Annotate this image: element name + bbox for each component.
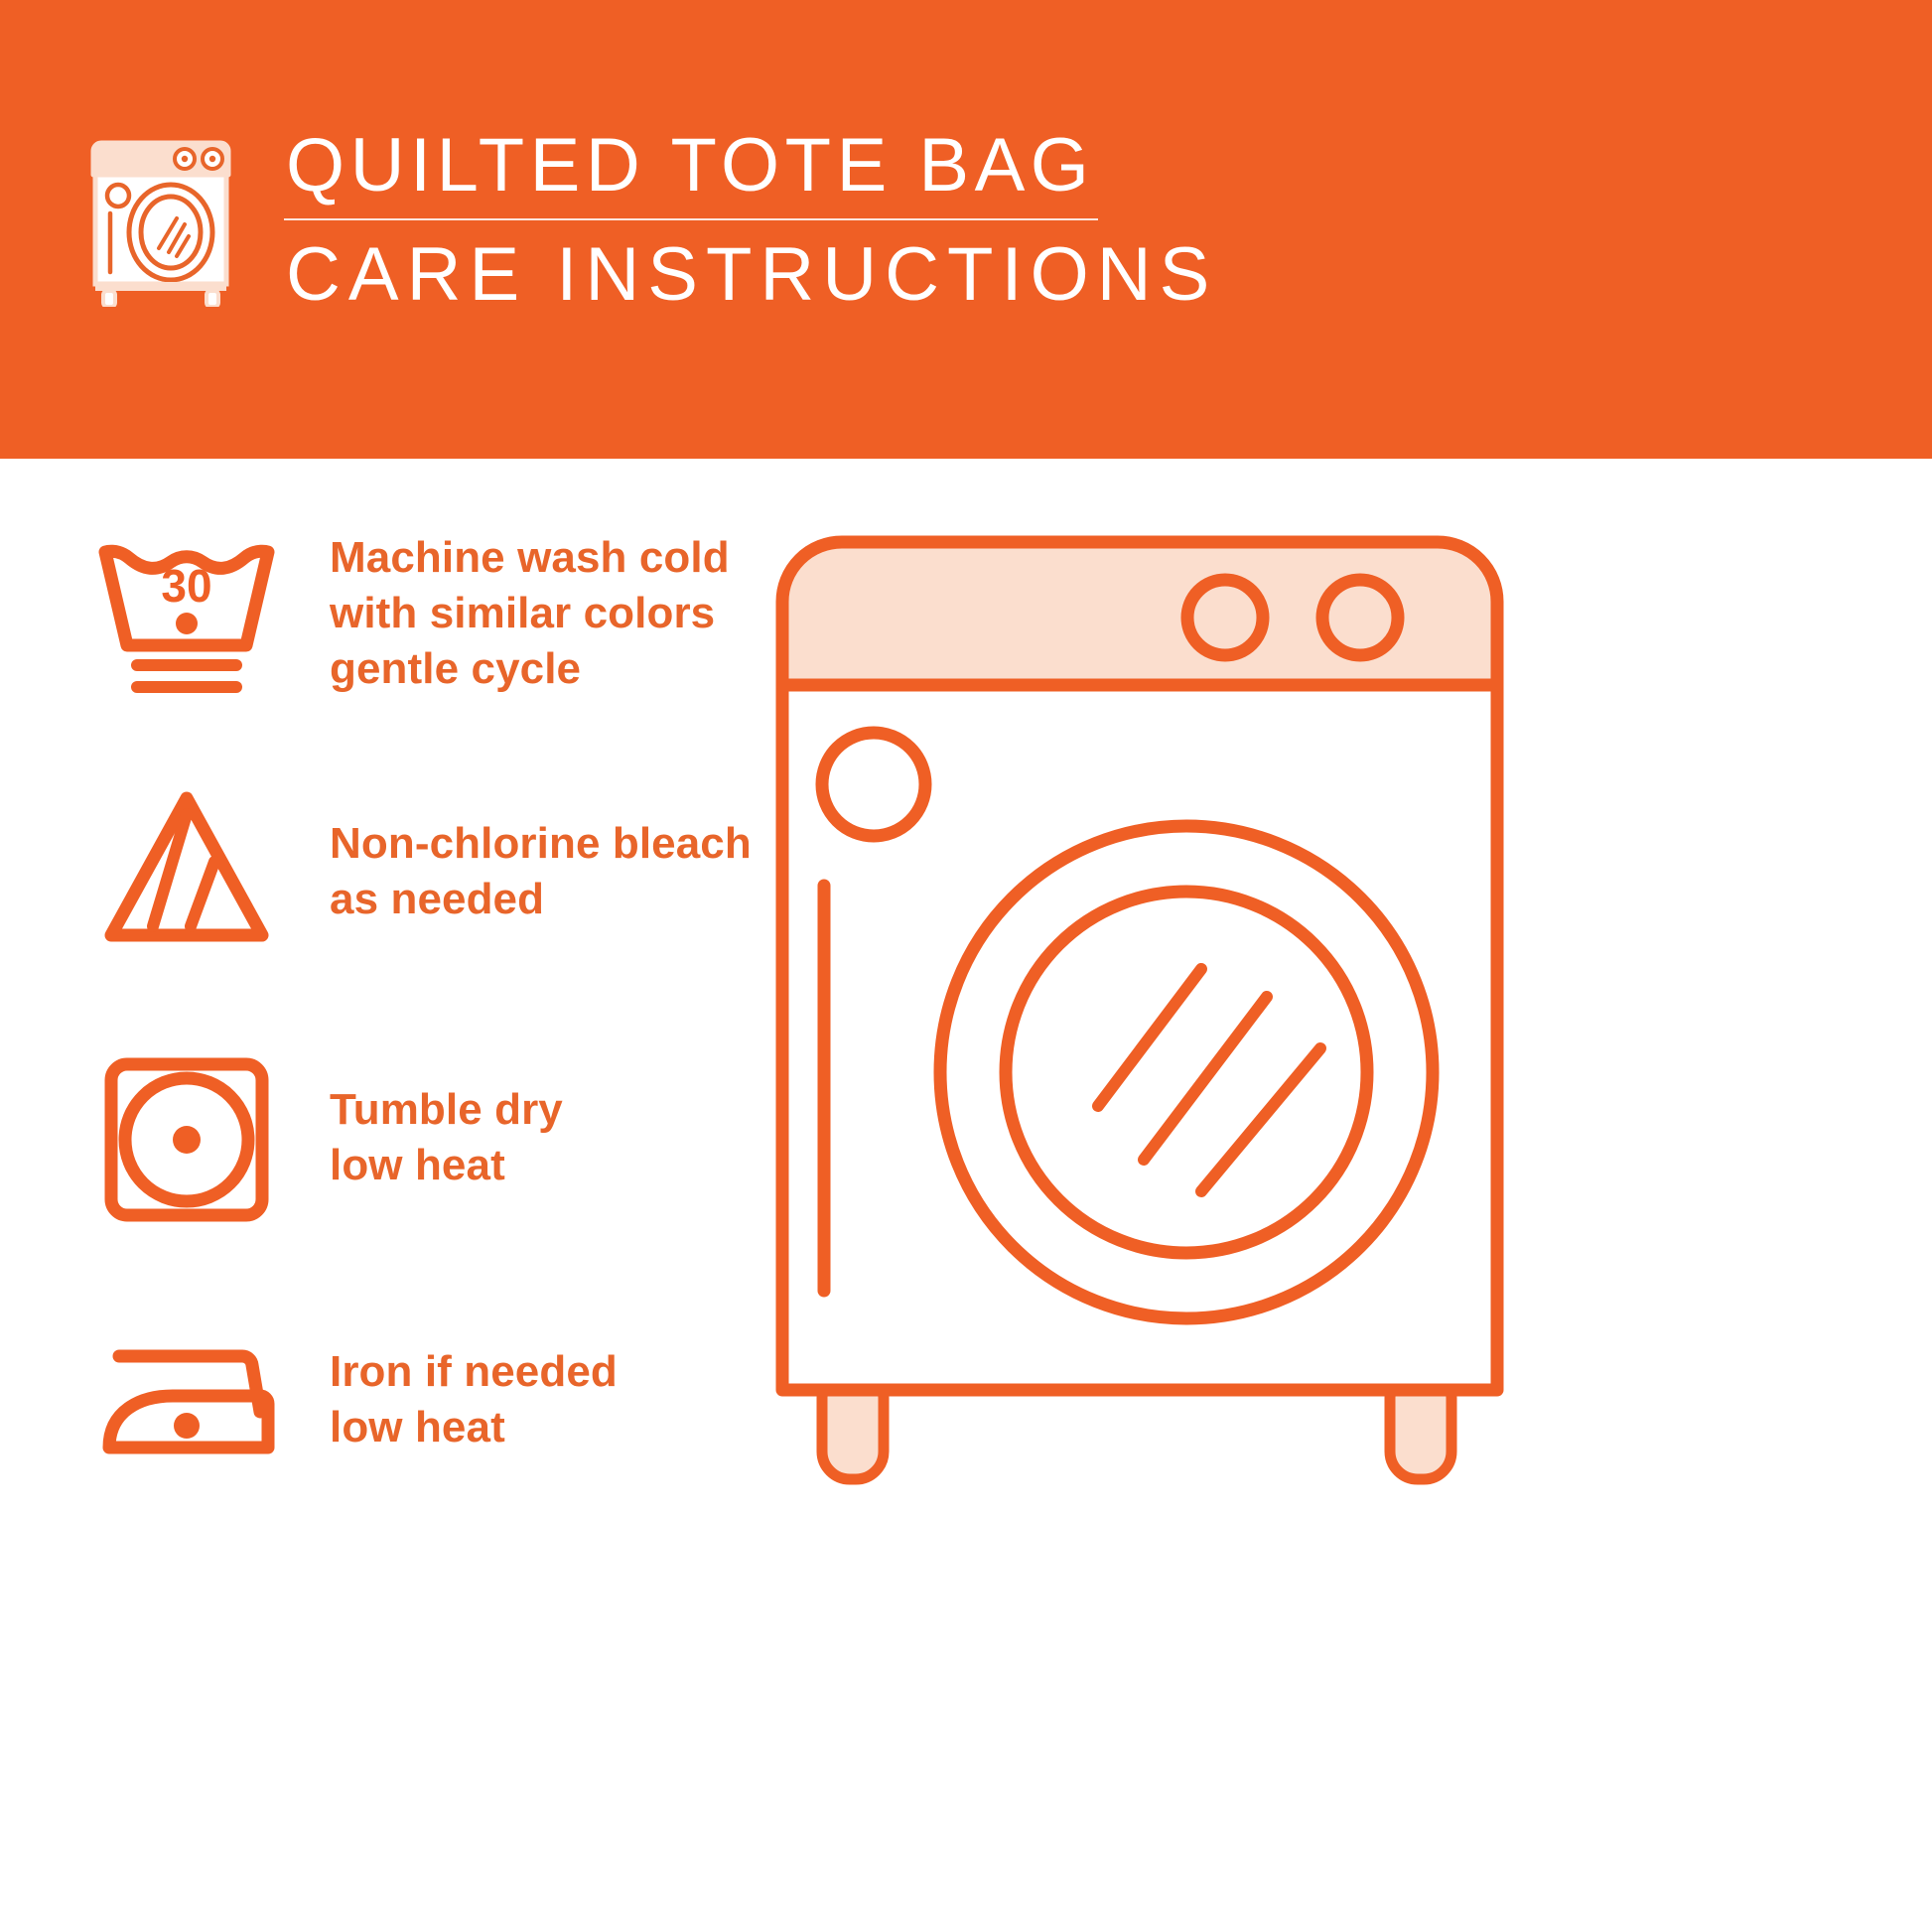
care-item-label: Iron if needed low heat: [330, 1344, 618, 1456]
control-knob-left[interactable]: [1187, 580, 1263, 655]
care-item-label: Tumble dry low heat: [330, 1082, 563, 1194]
washing-machine-graphic: [764, 496, 1519, 1489]
page-subtitle: CARE INSTRUCTIONS: [282, 236, 1217, 314]
care-item-machine-wash: 30 Machine wash cold with similar colors…: [87, 514, 882, 713]
care-instruction-list: 30 Machine wash cold with similar colors…: [0, 459, 894, 1932]
bleach-stripe-2: [191, 862, 214, 926]
header-divider: [284, 218, 1098, 220]
small-round-light: [822, 733, 925, 836]
logo-knob-right: [203, 149, 222, 169]
care-item-label: Machine wash cold with similar colors ge…: [330, 530, 730, 698]
care-item-bleach: Non-chlorine bleach as needed: [87, 772, 882, 971]
wash-temperature-value: 30: [161, 560, 211, 612]
page-header: QUILTED TOTE BAG CARE INSTRUCTIONS: [0, 0, 1932, 459]
iron-heat-dot: [174, 1413, 200, 1439]
wash-basin-30-icon: 30: [87, 514, 286, 713]
page-title: QUILTED TOTE BAG: [282, 127, 1217, 205]
bleach-triangle-icon: [87, 772, 286, 971]
control-knob-right[interactable]: [1322, 580, 1398, 655]
washing-machine-icon: [81, 133, 240, 307]
iron-icon: [87, 1301, 286, 1499]
header-content: QUILTED TOTE BAG CARE INSTRUCTIONS: [81, 127, 1217, 313]
gentle-cycle-bar-2: [131, 681, 242, 693]
logo-knob-left: [175, 149, 195, 169]
drum-inner-ring: [1006, 892, 1367, 1253]
tumble-dry-heat-dot: [173, 1126, 201, 1154]
header-text-block: QUILTED TOTE BAG CARE INSTRUCTIONS: [282, 127, 1217, 313]
wash-dot-marker: [176, 613, 198, 634]
tumble-dry-icon: [87, 1038, 286, 1237]
care-item-label: Non-chlorine bleach as needed: [330, 816, 752, 928]
gentle-cycle-bar-1: [131, 659, 242, 671]
care-item-tumble-dry: Tumble dry low heat: [87, 1038, 882, 1237]
washing-machine-illustration: [764, 496, 1519, 1489]
care-item-iron: Iron if needed low heat: [87, 1301, 882, 1499]
